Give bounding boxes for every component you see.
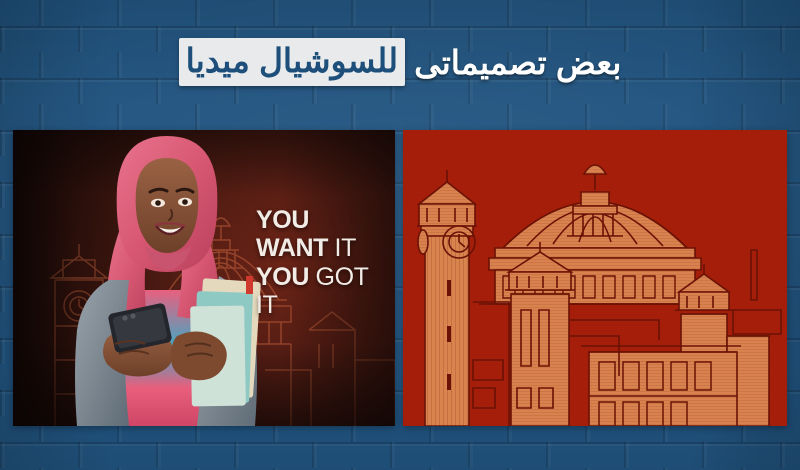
page-title: بعض تصميماتى للسوشيال ميديا bbox=[0, 33, 800, 91]
page-title-highlight: للسوشيال ميديا bbox=[179, 38, 405, 86]
headline-line-2-bold: WANT bbox=[256, 234, 328, 262]
design-gallery: YOU WANT IT YOU GOT IT bbox=[13, 130, 787, 426]
poster-canvas: بعض تصميماتى للسوشيال ميديا bbox=[0, 0, 800, 470]
design-card-right[interactable] bbox=[403, 130, 787, 426]
page-title-plain: بعض تصميماتى bbox=[414, 46, 621, 79]
cairo-university-lineart-icon bbox=[403, 130, 787, 426]
headline-line-3: YOU GOT bbox=[256, 263, 391, 291]
headline-line-4: IT bbox=[256, 291, 391, 319]
headline-line-3-light: GOT bbox=[316, 263, 369, 291]
headline-line-2-light: IT bbox=[335, 234, 356, 262]
headline-line-4-light: IT bbox=[256, 291, 277, 319]
left-card-headline: YOU WANT IT YOU GOT IT bbox=[256, 206, 391, 319]
headline-line-3-bold: YOU bbox=[256, 263, 309, 291]
headline-line-1: YOU bbox=[256, 206, 391, 234]
woman-with-phone-illustration bbox=[49, 130, 289, 426]
design-card-left[interactable]: YOU WANT IT YOU GOT IT bbox=[13, 130, 395, 426]
headline-line-1-bold: YOU bbox=[256, 206, 309, 234]
headline-line-2: WANT IT bbox=[256, 234, 391, 262]
